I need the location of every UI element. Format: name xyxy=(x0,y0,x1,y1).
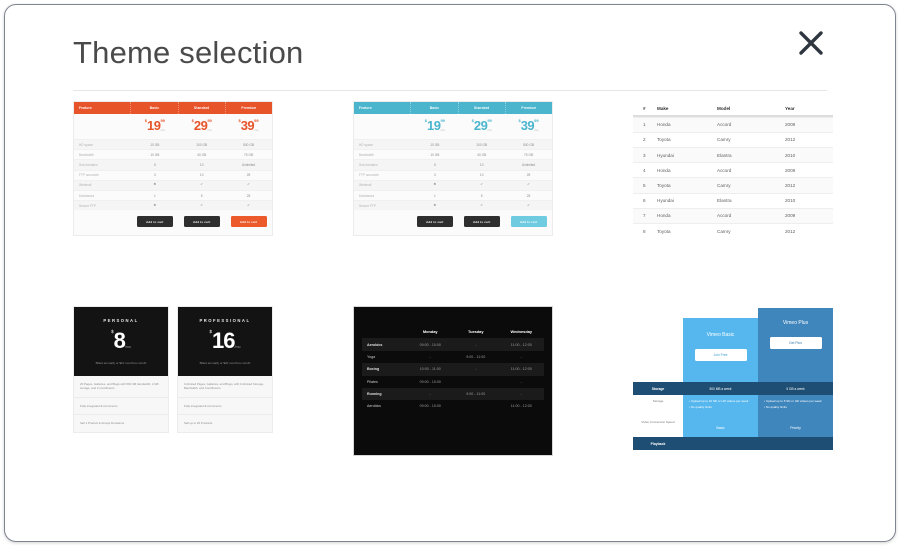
pricing-feature-label: Sub domains xyxy=(354,160,411,169)
add-to-cart-button[interactable]: Add to cart xyxy=(231,216,267,227)
pricing-feature-label: Secure FTP xyxy=(74,201,131,210)
price-cents: 99 xyxy=(254,118,258,123)
table-header-cell: Model xyxy=(717,106,785,111)
schedule-class-label: Boxing xyxy=(362,367,408,371)
plan-name: PERSONAL xyxy=(78,318,164,323)
pricing-feature-label: Secure FTP xyxy=(354,201,411,210)
pricing-cta-row: Add to cartAdd to cartAdd to cart xyxy=(354,210,552,235)
schedule-time-cell: - xyxy=(453,343,499,347)
price-amount: 19 xyxy=(147,118,160,133)
pricing-feature-row: Sub domains510Unlimited xyxy=(354,159,552,169)
price-amount: 39 xyxy=(241,118,254,133)
pricing-feature-value: 5 xyxy=(411,160,458,169)
cross-icon: ✖ xyxy=(411,201,458,210)
pricing-feature-value: 10 xyxy=(458,160,505,169)
price-cell: $2999/mo xyxy=(178,114,225,139)
table-cell: 2012 xyxy=(785,229,833,234)
cta-cell: Add to cart xyxy=(458,216,505,227)
price-cents: 99 xyxy=(534,118,538,123)
cta-spacer xyxy=(74,216,131,227)
schedule-time-cell: 9:00 - 11:00 xyxy=(453,392,499,396)
vimeo-row-labels: StorageVideo Conversion Speed xyxy=(633,395,683,437)
pricing-header-cell: Feature xyxy=(74,102,131,114)
join-free-button[interactable]: Join Free xyxy=(695,349,747,361)
price-amount: 19 xyxy=(427,118,440,133)
table-cell: Elantra xyxy=(717,153,785,158)
schedule-class-label: Running xyxy=(362,392,408,396)
table-cell: Accord xyxy=(717,168,785,173)
vimeo-playback-band: Playback xyxy=(633,437,833,450)
theme-thumb-pricing-teal[interactable]: FeatureBasicStandardPremium$1999/mo$2999… xyxy=(353,101,553,261)
pricing-feature-row: Sub domains510Unlimited xyxy=(74,159,272,169)
cta-cell: Add to cart xyxy=(131,216,178,227)
table-cell: 6 xyxy=(633,198,657,203)
pricing-header-cell: Basic xyxy=(131,102,178,114)
price-cents: 99 xyxy=(207,118,211,123)
pricing-feature-value: 1 xyxy=(131,191,178,200)
vimeo-storage-label: Storage xyxy=(633,387,683,391)
cross-icon: ✖ xyxy=(131,201,178,210)
schedule-header-cell: Wednesday xyxy=(499,329,545,334)
table-cell: Camry xyxy=(717,229,785,234)
price-spacer xyxy=(74,114,131,139)
pricing-feature-value: 1 xyxy=(411,191,458,200)
pricing-feature-value: 500 GB xyxy=(225,140,272,149)
plan-amount: 16 xyxy=(212,328,234,353)
modal-header: Theme selection xyxy=(73,5,827,91)
schedule-table: MondayTuesdayWednesdayAerobics09:00 - 10… xyxy=(353,306,553,456)
pricing-header-cell: Premium xyxy=(506,102,552,114)
price-cents: 99 xyxy=(487,118,491,123)
price-value: $2999/mo xyxy=(472,119,492,133)
table-cell: 3 xyxy=(633,153,657,158)
pricing-feature-row: Secure FTP✖✔✔ xyxy=(74,200,272,210)
cross-icon: ✖ xyxy=(411,181,458,190)
schedule-time-cell: 09:00 - 10:00 xyxy=(408,380,454,384)
schedule-row: Aerobics09:00 - 10:00-11:00 - 12:00 xyxy=(362,338,544,350)
table-row: 3HyundaiElantra2010 xyxy=(633,147,833,162)
pricing-feature-label: Sub domains xyxy=(74,160,131,169)
schedule-time-cell xyxy=(453,380,499,384)
table-cell: Elantra xyxy=(717,198,785,203)
pricing-header-row: FeatureBasicStandardPremium xyxy=(354,102,552,114)
table-cell: Toyota xyxy=(657,183,717,188)
plan-feature: Sell up to 20 Products xyxy=(178,415,272,432)
pricing-header-row: FeatureBasicStandardPremium xyxy=(74,102,272,114)
pricing-feature-label: FTP accounts xyxy=(354,171,411,180)
check-icon: ✔ xyxy=(178,181,225,190)
pricing-feature-row: Webmail✖✔✔ xyxy=(74,180,272,190)
vimeo-basic-bullets: • Upload up to 10 SD or HD videos per we… xyxy=(683,399,758,410)
pricing-feature-value: 500 GB xyxy=(505,140,552,149)
pricing-header-cell: Basic xyxy=(411,102,458,114)
vimeo-plus-title: Vimeo Plus xyxy=(758,320,833,326)
plan-amount: 8 xyxy=(114,328,125,353)
table-cell: Honda xyxy=(657,168,717,173)
pricing-feature-value: 40 GB xyxy=(178,150,225,159)
check-icon: ✔ xyxy=(178,201,225,210)
pricing-feature-value: 40 GB xyxy=(458,150,505,159)
price-cell: $3999/mo xyxy=(225,114,272,139)
schedule-time-cell: - xyxy=(453,367,499,371)
schedule-header-cell xyxy=(362,329,408,334)
schedule-class-label: Yoga xyxy=(362,355,408,359)
check-icon: ✔ xyxy=(458,181,505,190)
plan-name: PROFESSIONAL xyxy=(182,318,268,323)
schedule-header-cell: Monday xyxy=(408,329,454,334)
theme-thumb-pricing-orange[interactable]: FeatureBasicStandardPremium$1999/mo$2999… xyxy=(73,101,273,261)
plan-price: $8/mo xyxy=(78,330,164,352)
price-cell: $1999/mo xyxy=(131,114,178,139)
plan-period: /mo xyxy=(125,345,131,349)
price-cell: $2999/mo xyxy=(458,114,505,139)
pricing-feature-value: 3 xyxy=(131,171,178,180)
pricing-feature-value: 25 xyxy=(505,171,552,180)
pricing-feature-value: 5 xyxy=(131,160,178,169)
pricing-feature-label: Webmail xyxy=(74,181,131,190)
check-icon: ✔ xyxy=(505,201,552,210)
table-cell: 1 xyxy=(633,122,657,127)
pricing-feature-label: HD space xyxy=(354,140,411,149)
table-cell: Toyota xyxy=(657,229,717,234)
schedule-class-label: Aerobics xyxy=(362,343,408,347)
schedule-time-cell: 10:00 - 11:00 xyxy=(408,367,454,371)
pricing-feature-value: 10 xyxy=(178,171,225,180)
pricing-feature-row: Databases1525 xyxy=(354,190,552,200)
price-value: $3999/mo xyxy=(238,119,258,133)
table-cell: 2012 xyxy=(785,137,833,142)
vimeo-label-storage: Storage xyxy=(633,399,683,403)
check-icon: ✔ xyxy=(225,201,272,210)
price-amount: 39 xyxy=(521,118,534,133)
pricing-table-teal: FeatureBasicStandardPremium$1999/mo$2999… xyxy=(353,101,553,236)
price-cents: 99 xyxy=(440,118,444,123)
schedule-time-cell: 11:00 - 12:00 xyxy=(499,367,545,371)
table-row: 8ToyotaCamry2012 xyxy=(633,223,833,238)
theme-thumb-car-table[interactable]: #MakeModelYear1HondaAccord20092ToyotaCam… xyxy=(633,101,833,261)
plan-feature: Unlimited Pages, Galleries, and Blogs, w… xyxy=(178,376,272,398)
check-icon: ✔ xyxy=(225,181,272,190)
plan-card[interactable]: PERSONAL$8/moBilled annually or $10 mont… xyxy=(73,306,169,433)
check-icon: ✔ xyxy=(505,181,552,190)
schedule-time-cell: 9:00 - 11:00 xyxy=(453,355,499,359)
pricing-feature-value: 25 xyxy=(505,191,552,200)
dark-plan-cards: PERSONAL$8/moBilled annually or $10 mont… xyxy=(73,306,273,433)
schedule-header-row: MondayTuesdayWednesday xyxy=(362,325,544,338)
table-cell: 7 xyxy=(633,213,657,218)
schedule-time-cell: - xyxy=(499,355,545,359)
price-value: $1999/mo xyxy=(425,119,445,133)
vimeo-basic-playback-value: Basic xyxy=(683,426,758,430)
table-row: 7HondaAccord2009 xyxy=(633,208,833,223)
theme-selection-modal: Theme selection FeatureBasicStandardPrem… xyxy=(4,4,896,542)
cta-cell: Add to cart xyxy=(178,216,225,227)
table-cell: 4 xyxy=(633,168,657,173)
schedule-time-cell: 09:00 - 10:00 xyxy=(408,343,454,347)
vimeo-comparison: Vimeo BasicJoin FreeVimeo PlusGet PlusSt… xyxy=(633,306,833,456)
price-cell: $3999/mo xyxy=(505,114,552,139)
page-title: Theme selection xyxy=(73,35,303,71)
theme-thumb-dark-plans[interactable]: PERSONAL$8/moBilled annually or $10 mont… xyxy=(73,306,273,466)
vimeo-plus-playback-value: Priority xyxy=(758,426,833,430)
add-to-cart-button[interactable]: Add to cart xyxy=(184,216,220,227)
theme-thumb-vimeo-compare[interactable]: Vimeo BasicJoin FreeVimeo PlusGet PlusSt… xyxy=(633,306,833,466)
table-cell: Hyundai xyxy=(657,153,717,158)
cta-cell: Add to cart xyxy=(225,216,272,227)
schedule-time-cell: - xyxy=(408,392,454,396)
schedule-time-cell: - xyxy=(408,355,454,359)
theme-thumb-dark-schedule[interactable]: MondayTuesdayWednesdayAerobics09:00 - 10… xyxy=(353,306,553,466)
pricing-feature-value: Unlimited xyxy=(225,160,272,169)
pricing-feature-row: Webmail✖✔✔ xyxy=(354,180,552,190)
plan-card-header: PROFESSIONAL$16/moBilled annually or $20… xyxy=(178,307,272,376)
add-to-cart-button[interactable]: Add to cart xyxy=(137,216,173,227)
plan-subtitle: Billed annually or $10 month-to-month xyxy=(78,361,164,366)
schedule-class-label: Pilates xyxy=(362,380,408,384)
add-to-cart-button[interactable]: Add to cart xyxy=(511,216,547,227)
pricing-feature-row: Secure FTP✖✔✔ xyxy=(354,200,552,210)
schedule-time-cell: - xyxy=(499,392,545,396)
table-cell: Camry xyxy=(717,183,785,188)
price-spacer xyxy=(354,114,411,139)
vimeo-storage-band: Storage500 MB a week5 GB a week xyxy=(633,382,833,395)
table-cell: Accord xyxy=(717,213,785,218)
schedule-time-cell: 11:00 - 12:00 xyxy=(499,404,545,408)
table-row: 1HondaAccord2009 xyxy=(633,117,833,132)
pricing-feature-value: 10 GB xyxy=(131,150,178,159)
pricing-feature-value: 100 GB xyxy=(458,140,505,149)
pricing-feature-row: FTP accounts31025 xyxy=(354,170,552,180)
schedule-row: Running-9:00 - 11:00- xyxy=(362,388,544,400)
plan-feature: Sell 1 Product & Accept Donations xyxy=(74,415,168,432)
pricing-feature-value: 5 xyxy=(458,191,505,200)
vimeo-playback-label: Playback xyxy=(633,442,683,446)
pricing-feature-value: 75 GB xyxy=(225,150,272,159)
price-cents: 99 xyxy=(160,118,164,123)
vimeo-basic-column: Vimeo BasicJoin Free xyxy=(683,318,758,438)
pricing-feature-label: Webmail xyxy=(354,181,411,190)
plan-feature: 20 Pages, Galleries, and Blogs with 500 … xyxy=(74,376,168,398)
pricing-feature-label: FTP accounts xyxy=(74,171,131,180)
cta-cell: Add to cart xyxy=(505,216,552,227)
pricing-feature-row: HD space10 GB100 GB500 GB xyxy=(354,139,552,149)
pricing-feature-value: 3 xyxy=(411,171,458,180)
pricing-feature-label: HD space xyxy=(74,140,131,149)
pricing-feature-row: HD space10 GB100 GB500 GB xyxy=(74,139,272,149)
schedule-class-label: Aerobics xyxy=(362,404,408,408)
table-cell: 2010 xyxy=(785,153,833,158)
plan-subtitle: Billed annually or $20 month-to-month xyxy=(182,361,268,366)
vimeo-plus-storage: 5 GB a week xyxy=(758,387,833,391)
pricing-cta-row: Add to cartAdd to cartAdd to cart xyxy=(74,210,272,235)
plan-period: /mo xyxy=(235,345,241,349)
pricing-header-cell: Standard xyxy=(179,102,226,114)
schedule-time-cell: - xyxy=(499,380,545,384)
add-to-cart-button[interactable]: Add to cart xyxy=(464,216,500,227)
table-cell: Accord xyxy=(717,122,785,127)
plan-price: $16/mo xyxy=(182,330,268,352)
vimeo-bullet: • Upload up to 10 SD or HD videos per we… xyxy=(689,399,758,405)
check-icon: ✔ xyxy=(458,201,505,210)
plan-feature: Fully integrated E-Commerce xyxy=(74,398,168,416)
price-cell: $1999/mo xyxy=(411,114,458,139)
price-value: $2999/mo xyxy=(192,119,212,133)
cta-spacer xyxy=(354,216,411,227)
table-cell: 2009 xyxy=(785,122,833,127)
pricing-feature-label: Bandwidth xyxy=(354,150,411,159)
pricing-feature-value: 10 xyxy=(458,171,505,180)
table-row: 4HondaAccord2009 xyxy=(633,162,833,177)
pricing-table-orange: FeatureBasicStandardPremium$1999/mo$2999… xyxy=(73,101,273,236)
table-cell: Hyundai xyxy=(657,198,717,203)
vimeo-bullet: • No quality limits xyxy=(764,405,833,411)
schedule-time-cell: 09:00 - 10:00 xyxy=(408,404,454,408)
schedule-header-cell: Tuesday xyxy=(453,329,499,334)
schedule-time-cell xyxy=(453,404,499,408)
pricing-feature-value: 25 xyxy=(225,191,272,200)
add-to-cart-button[interactable]: Add to cart xyxy=(417,216,453,227)
table-cell: 2009 xyxy=(785,213,833,218)
vimeo-label-conversion: Video Conversion Speed xyxy=(633,420,683,425)
striped-table: #MakeModelYear1HondaAccord20092ToyotaCam… xyxy=(633,101,833,238)
pricing-feature-value: 10 GB xyxy=(411,150,458,159)
table-cell: Honda xyxy=(657,213,717,218)
pricing-feature-row: Bandwidth10 GB40 GB75 GB xyxy=(74,149,272,159)
cta-cell: Add to cart xyxy=(411,216,458,227)
vimeo-plus-column: Vimeo PlusGet Plus xyxy=(758,308,833,438)
table-cell: Honda xyxy=(657,122,717,127)
price-amount: 29 xyxy=(194,118,207,133)
table-header-cell: # xyxy=(633,106,657,111)
price-value: $1999/mo xyxy=(145,119,165,133)
pricing-feature-value: 10 GB xyxy=(131,140,178,149)
pricing-feature-value: 10 GB xyxy=(411,140,458,149)
pricing-price-row: $1999/mo$2999/mo$3999/mo xyxy=(74,114,272,139)
schedule-row: Yoga-9:00 - 11:00- xyxy=(362,351,544,363)
pricing-price-row: $1999/mo$2999/mo$3999/mo xyxy=(354,114,552,139)
pricing-feature-label: Bandwidth xyxy=(74,150,131,159)
pricing-header-cell: Standard xyxy=(459,102,506,114)
pricing-feature-row: Bandwidth10 GB40 GB75 GB xyxy=(354,149,552,159)
pricing-feature-value: 5 xyxy=(178,191,225,200)
pricing-feature-label: Databases xyxy=(74,191,131,200)
table-row: 5ToyotaCamry2012 xyxy=(633,177,833,192)
table-cell: 8 xyxy=(633,229,657,234)
pricing-feature-value: 100 GB xyxy=(178,140,225,149)
pricing-feature-value: Unlimited xyxy=(505,160,552,169)
table-cell: 5 xyxy=(633,183,657,188)
table-row: 6HyundaiElantra2010 xyxy=(633,193,833,208)
table-cell: 2 xyxy=(633,137,657,142)
pricing-feature-row: Databases1525 xyxy=(74,190,272,200)
pricing-header-cell: Premium xyxy=(226,102,272,114)
pricing-header-cell: Feature xyxy=(354,102,411,114)
table-header-row: #MakeModelYear xyxy=(633,101,833,117)
vimeo-basic-storage: 500 MB a week xyxy=(683,387,758,391)
schedule-row: Boxing10:00 - 11:00-11:00 - 12:00 xyxy=(362,363,544,375)
price-amount: 29 xyxy=(474,118,487,133)
schedule-row: Aerobics09:00 - 10:0011:00 - 12:00 xyxy=(362,400,544,412)
pricing-feature-value: 10 xyxy=(178,160,225,169)
table-cell: Camry xyxy=(717,137,785,142)
theme-grid: FeatureBasicStandardPremium$1999/mo$2999… xyxy=(73,101,833,501)
vimeo-basic-title: Vimeo Basic xyxy=(683,332,758,338)
price-value: $3999/mo xyxy=(518,119,538,133)
pricing-feature-value: 25 xyxy=(225,171,272,180)
table-header-cell: Year xyxy=(785,106,833,111)
vimeo-plus-bullets: • Upload up to 5 SD or HD videos per wee… xyxy=(758,399,833,410)
pricing-feature-label: Databases xyxy=(354,191,411,200)
vimeo-bullet: • No quality limits xyxy=(689,405,758,411)
cross-icon: ✖ xyxy=(131,181,178,190)
table-cell: Toyota xyxy=(657,137,717,142)
close-icon[interactable] xyxy=(790,22,832,64)
table-cell: 2009 xyxy=(785,168,833,173)
plan-card-header: PERSONAL$8/moBilled annually or $10 mont… xyxy=(74,307,168,376)
pricing-feature-value: 75 GB xyxy=(505,150,552,159)
table-header-cell: Make xyxy=(657,106,717,111)
plan-feature: Fully integrated E-Commerce xyxy=(178,398,272,416)
schedule-time-cell: 11:00 - 12:00 xyxy=(499,343,545,347)
table-cell: 2012 xyxy=(785,183,833,188)
get-plus-button[interactable]: Get Plus xyxy=(770,337,822,349)
table-cell: 2010 xyxy=(785,198,833,203)
schedule-row: Pilates09:00 - 10:00- xyxy=(362,376,544,388)
pricing-feature-row: FTP accounts31025 xyxy=(74,170,272,180)
table-row: 2ToyotaCamry2012 xyxy=(633,132,833,147)
plan-card[interactable]: PROFESSIONAL$16/moBilled annually or $20… xyxy=(177,306,273,433)
